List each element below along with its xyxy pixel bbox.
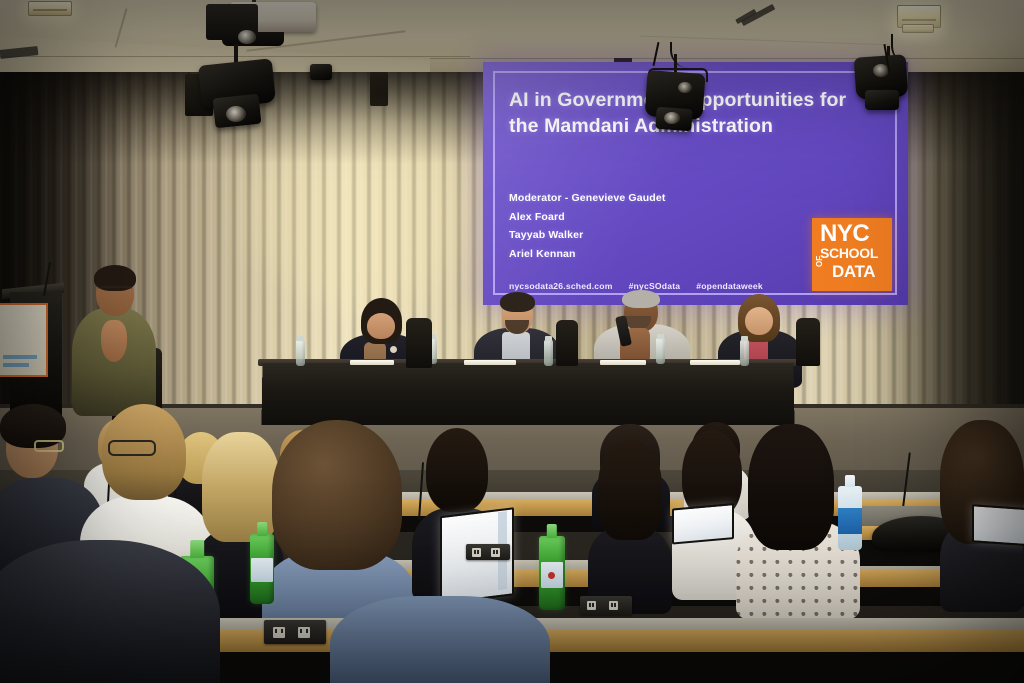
audience-member-mid-9 xyxy=(940,420,1024,580)
eyeglasses xyxy=(108,440,156,456)
podium-sign xyxy=(0,303,48,377)
audience-member-mid-6 xyxy=(588,440,672,590)
slide-footer-url: nycsodata26.sched.com xyxy=(509,281,613,291)
table-papers xyxy=(600,360,646,365)
slide-speaker-1: Alex Foard xyxy=(509,208,666,227)
table-papers xyxy=(690,360,740,365)
open-laptop xyxy=(672,503,730,540)
recessed-ceiling-light xyxy=(28,1,72,16)
table-water-bottle xyxy=(544,340,553,366)
slide-footer-hashtag-2: #opendataweek xyxy=(696,281,763,291)
audience-member-front-1 xyxy=(0,540,220,683)
curtain-warm-glow xyxy=(250,110,470,310)
table-water-bottle xyxy=(656,338,665,364)
slide-title-line-2: the Mamdani Administration xyxy=(509,114,899,140)
table-water-bottle xyxy=(296,340,305,366)
open-laptop xyxy=(972,504,1024,542)
logo-line-of: OF xyxy=(816,256,824,267)
water-bottle-blue-label xyxy=(838,486,862,550)
power-outlet-module xyxy=(466,544,510,560)
audience-member-mid-4 xyxy=(262,420,416,620)
slide-speaker-list: Moderator - Genevieve Gaudet Alex Foard … xyxy=(509,189,666,264)
slide-speaker-moderator: Moderator - Genevieve Gaudet xyxy=(509,189,666,208)
recessed-ceiling-light-lower xyxy=(902,24,934,33)
panel-chair xyxy=(406,318,432,368)
power-outlet-module xyxy=(580,596,632,615)
table-papers xyxy=(464,360,516,365)
ceiling-projector xyxy=(206,2,318,46)
slide-speaker-2: Tayyab Walker xyxy=(509,226,666,245)
wall-speaker xyxy=(370,72,388,106)
power-outlet-module xyxy=(264,620,326,644)
panel-chair xyxy=(556,320,578,366)
host-glasses xyxy=(98,286,132,294)
logo-line-data: DATA xyxy=(832,263,875,281)
table-papers xyxy=(350,360,394,365)
audience-member-front-2 xyxy=(330,596,550,683)
logo-line-nyc: NYC xyxy=(820,222,869,246)
conference-photo-scene: AI in Government: Opportunities for the … xyxy=(0,0,1024,683)
eyeglasses xyxy=(34,440,64,452)
host-clasped-hands xyxy=(101,320,127,362)
slide-speaker-3: Ariel Kennan xyxy=(509,245,666,264)
sparkling-water-bottle-green xyxy=(250,534,274,604)
logo-line-school: SCHOOL xyxy=(820,246,878,261)
host-applauding xyxy=(66,266,162,416)
ceiling-seam xyxy=(430,58,1024,59)
nyc-school-of-data-logo: NYC SCHOOL OF DATA xyxy=(812,218,892,291)
panel-chair xyxy=(796,318,820,366)
panel-table xyxy=(262,363,795,425)
table-water-bottle xyxy=(740,340,749,366)
